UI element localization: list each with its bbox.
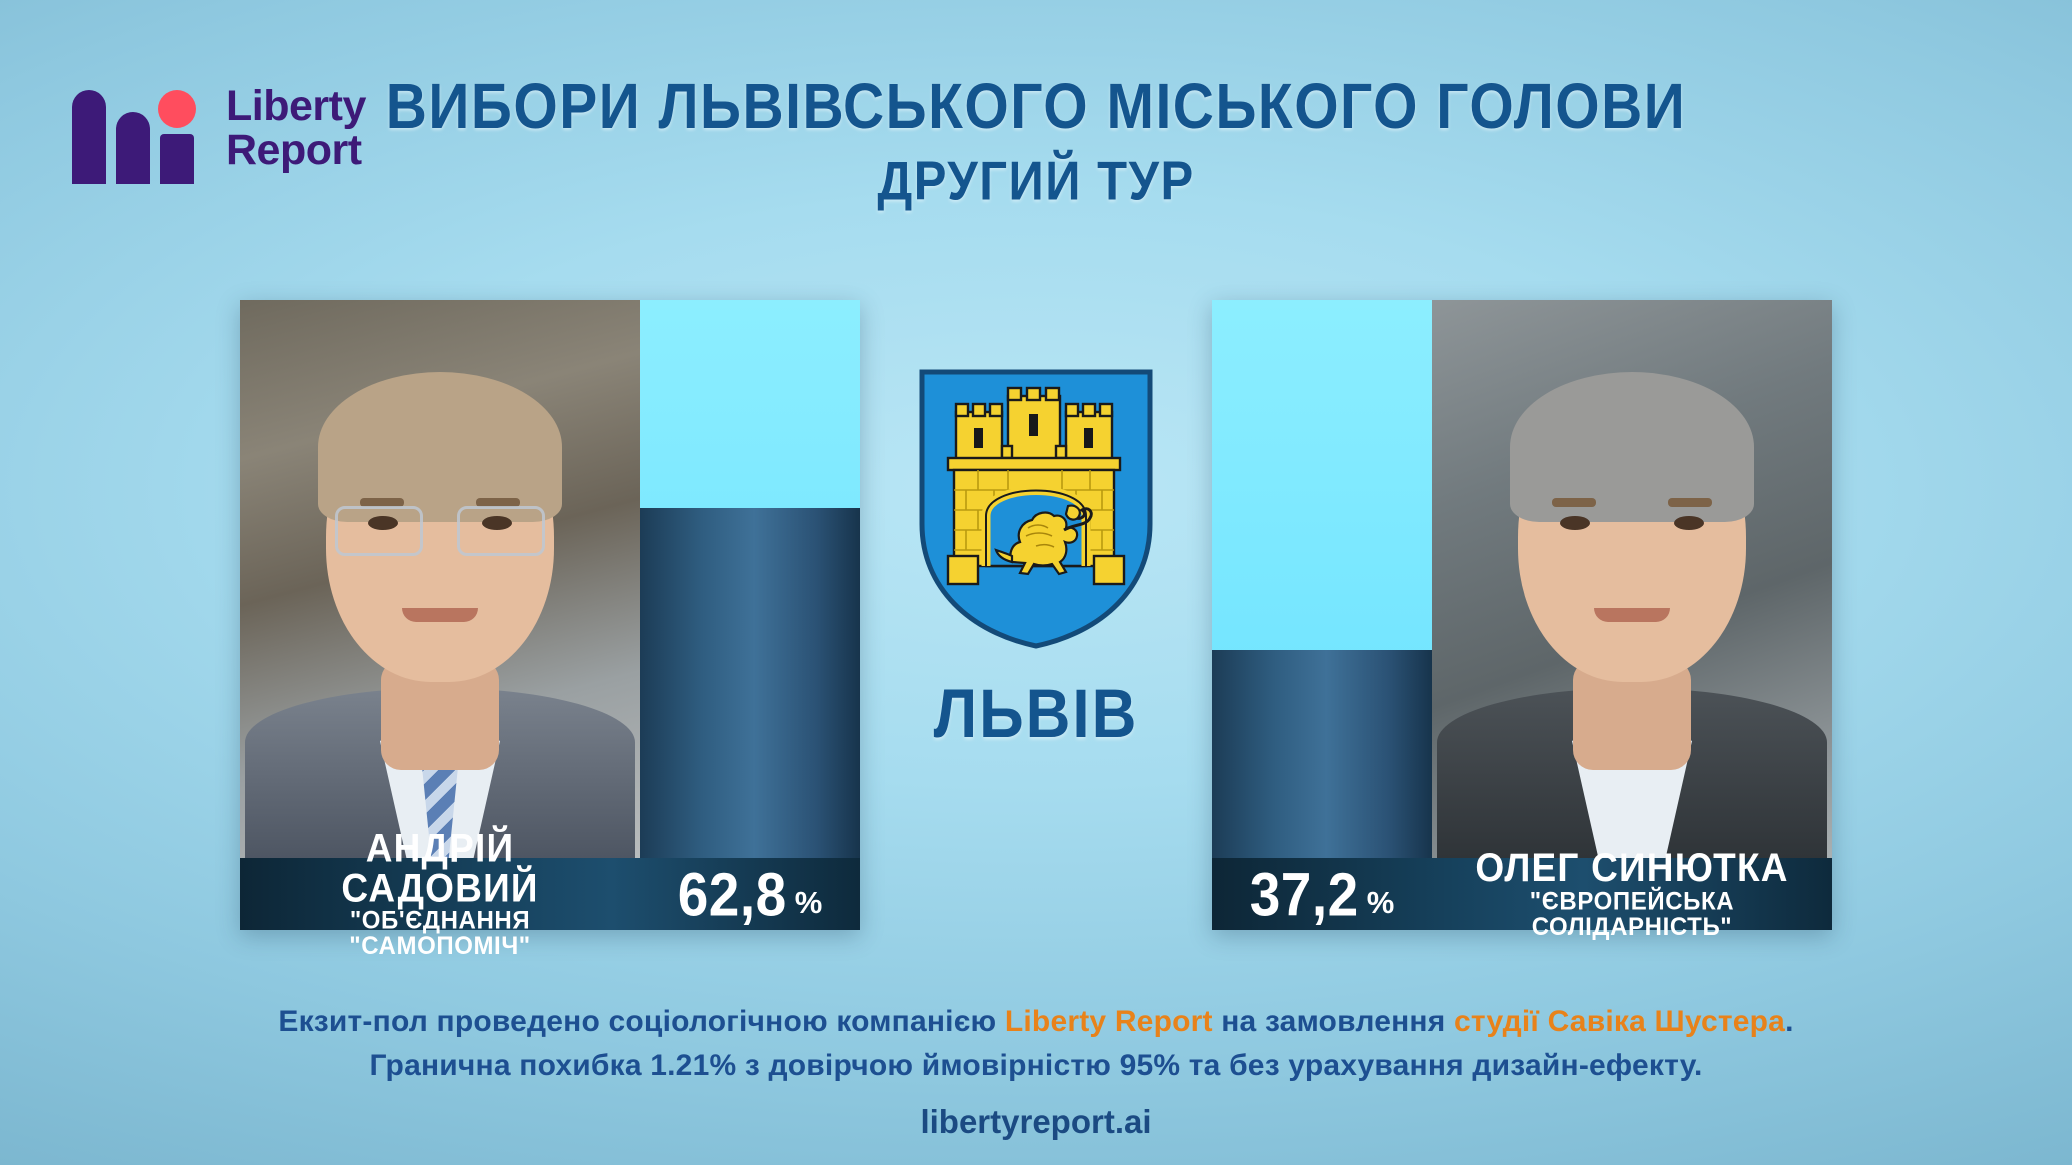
candidate-panel-body xyxy=(1212,300,1832,858)
page-subtitle: ДРУГИЙ ТУР xyxy=(0,150,2072,213)
candidate-percent-value: 62,8 xyxy=(678,858,787,930)
footer-block: Екзит-пол проведено соціологічною компан… xyxy=(0,1000,2072,1141)
portrait-mouth xyxy=(1594,608,1670,622)
candidate-identity: ОЛЕГ СИНЮТКА "ЄВРОПЕЙСЬКА СОЛІДАРНІСТЬ" xyxy=(1432,849,1832,939)
candidate-name-strip: АНДРІЙ САДОВИЙ "ОБ'ЄДНАННЯ "САМОПОМІЧ" 6… xyxy=(240,858,860,930)
candidate-panel-right: ОЛЕГ СИНЮТКА "ЄВРОПЕЙСЬКА СОЛІДАРНІСТЬ" … xyxy=(1212,300,1832,930)
portrait-hair xyxy=(1510,372,1754,522)
footer-line-2: Гранична похибка 1.21% з довірчою ймовір… xyxy=(0,1044,2072,1088)
header-block: ВИБОРИ ЛЬВІВСЬКОГО МІСЬКОГО ГОЛОВИ ДРУГИ… xyxy=(0,74,2072,206)
candidate-party: "ЄВРОПЕЙСЬКА СОЛІДАРНІСТЬ" xyxy=(1454,890,1810,940)
lviv-coat-of-arms-icon xyxy=(916,366,1156,652)
candidate-party: "ОБ'ЄДНАННЯ "САМОПОМІЧ" xyxy=(262,908,618,958)
portrait-brow-right xyxy=(1668,498,1712,507)
result-bar-track xyxy=(640,300,860,858)
footer-text-c: . xyxy=(1785,1005,1794,1038)
city-name: ЛЬВІВ xyxy=(916,675,1156,753)
candidate-panel-body xyxy=(240,300,860,858)
portrait-eye-right xyxy=(1674,516,1704,530)
footer-website[interactable]: libertyreport.ai xyxy=(0,1103,2072,1141)
candidate-panel-left: АНДРІЙ САДОВИЙ "ОБ'ЄДНАННЯ "САМОПОМІЧ" 6… xyxy=(240,300,860,930)
candidate-name: АНДРІЙ САДОВИЙ xyxy=(262,828,618,908)
candidate-percent-sign: % xyxy=(795,885,823,921)
result-bar-fill xyxy=(1212,650,1432,858)
footer-text-a: Екзит-пол проведено соціологічною компан… xyxy=(278,1005,1005,1038)
candidate-identity: АНДРІЙ САДОВИЙ "ОБ'ЄДНАННЯ "САМОПОМІЧ" xyxy=(240,831,640,958)
candidate-portrait xyxy=(1432,300,1832,858)
portrait-glasses xyxy=(335,500,545,556)
candidate-name-strip: ОЛЕГ СИНЮТКА "ЄВРОПЕЙСЬКА СОЛІДАРНІСТЬ" … xyxy=(1212,858,1832,930)
candidate-percent: 37,2 % xyxy=(1212,862,1432,926)
candidate-portrait xyxy=(240,300,640,858)
result-bar-track xyxy=(1212,300,1432,858)
footer-text-b: на замовлення xyxy=(1213,1005,1454,1038)
page-title: ВИБОРИ ЛЬВІВСЬКОГО МІСЬКОГО ГОЛОВИ xyxy=(0,74,2072,141)
portrait-eye-left xyxy=(1560,516,1590,530)
portrait-brow-left xyxy=(1552,498,1596,507)
portrait-mouth xyxy=(402,608,478,622)
candidate-name: ОЛЕГ СИНЮТКА xyxy=(1454,848,1810,888)
candidate-percent-value: 37,2 xyxy=(1250,858,1359,930)
city-emblem-block: ЛЬВІВ xyxy=(916,366,1156,750)
infographic-canvas: Liberty Report ВИБОРИ ЛЬВІВСЬКОГО МІСЬКО… xyxy=(0,0,2072,1165)
candidate-percent-sign: % xyxy=(1367,885,1395,921)
footer-line-1: Екзит-пол проведено соціологічною компан… xyxy=(0,1000,2072,1044)
footer-highlight-studio: студії Савіка Шустера xyxy=(1454,1005,1785,1038)
candidate-percent: 62,8 % xyxy=(640,862,860,926)
result-bar-fill xyxy=(640,508,860,858)
footer-highlight-company: Liberty Report xyxy=(1005,1005,1213,1038)
